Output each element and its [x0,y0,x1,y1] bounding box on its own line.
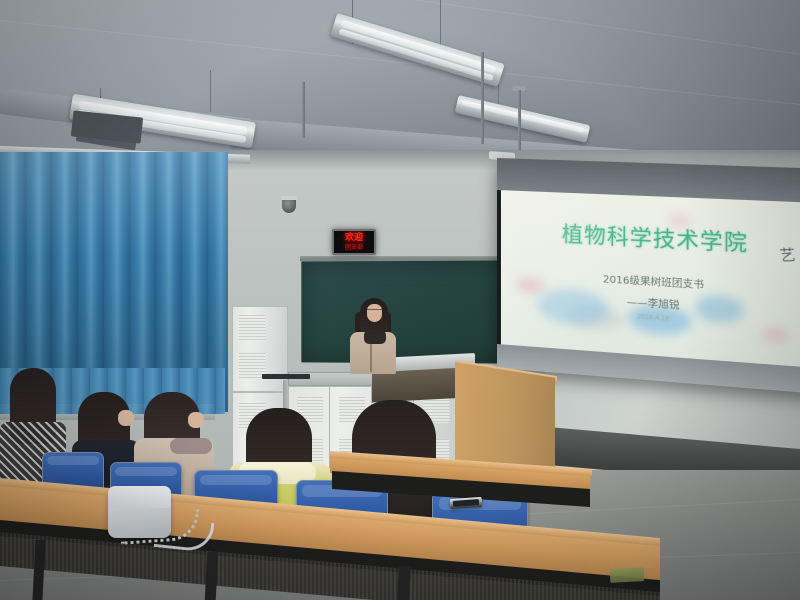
desk-leg [397,566,411,600]
chair-highlight [115,467,177,477]
classroom-photo: 欢迎 团支部 植物科学技术学院 艺 2016级果树班团支书 ——李旭锐 2018… [0,0,800,600]
light-hanger [210,70,211,112]
slide-logo-mark: 艺 [779,244,797,266]
chair-highlight [200,475,272,486]
led-display-line2: 团支部 [334,245,374,251]
projection-screen: 植物科学技术学院 艺 2016级果树班团支书 ——李旭锐 2018.4.18 [497,158,800,394]
ceiling-pipe [481,52,484,144]
cabinet-dark-trim [262,374,310,379]
presenter-scarf [364,330,386,344]
ceiling-pipe [302,82,305,138]
glasses-icon [367,309,382,312]
cabinet-vent [239,315,265,341]
presentation-slide: 植物科学技术学院 艺 2016级果树班团支书 ——李旭锐 2018.4.18 [501,190,800,368]
desk-item-green [610,567,645,583]
ceiling-pipe [518,90,521,152]
student-face [188,412,204,428]
student-scarf [170,438,212,454]
handbag-flap [108,486,171,508]
led-display-board: 欢迎 团支部 [332,229,376,255]
slide-title: 植物科学技术学院 [501,215,800,262]
metal-cabinet [232,306,288,392]
presenter-face [367,304,382,322]
chair-highlight [47,456,100,465]
chalkboard [301,257,516,363]
student-face [118,410,134,426]
led-display-line1: 欢迎 [334,234,374,243]
